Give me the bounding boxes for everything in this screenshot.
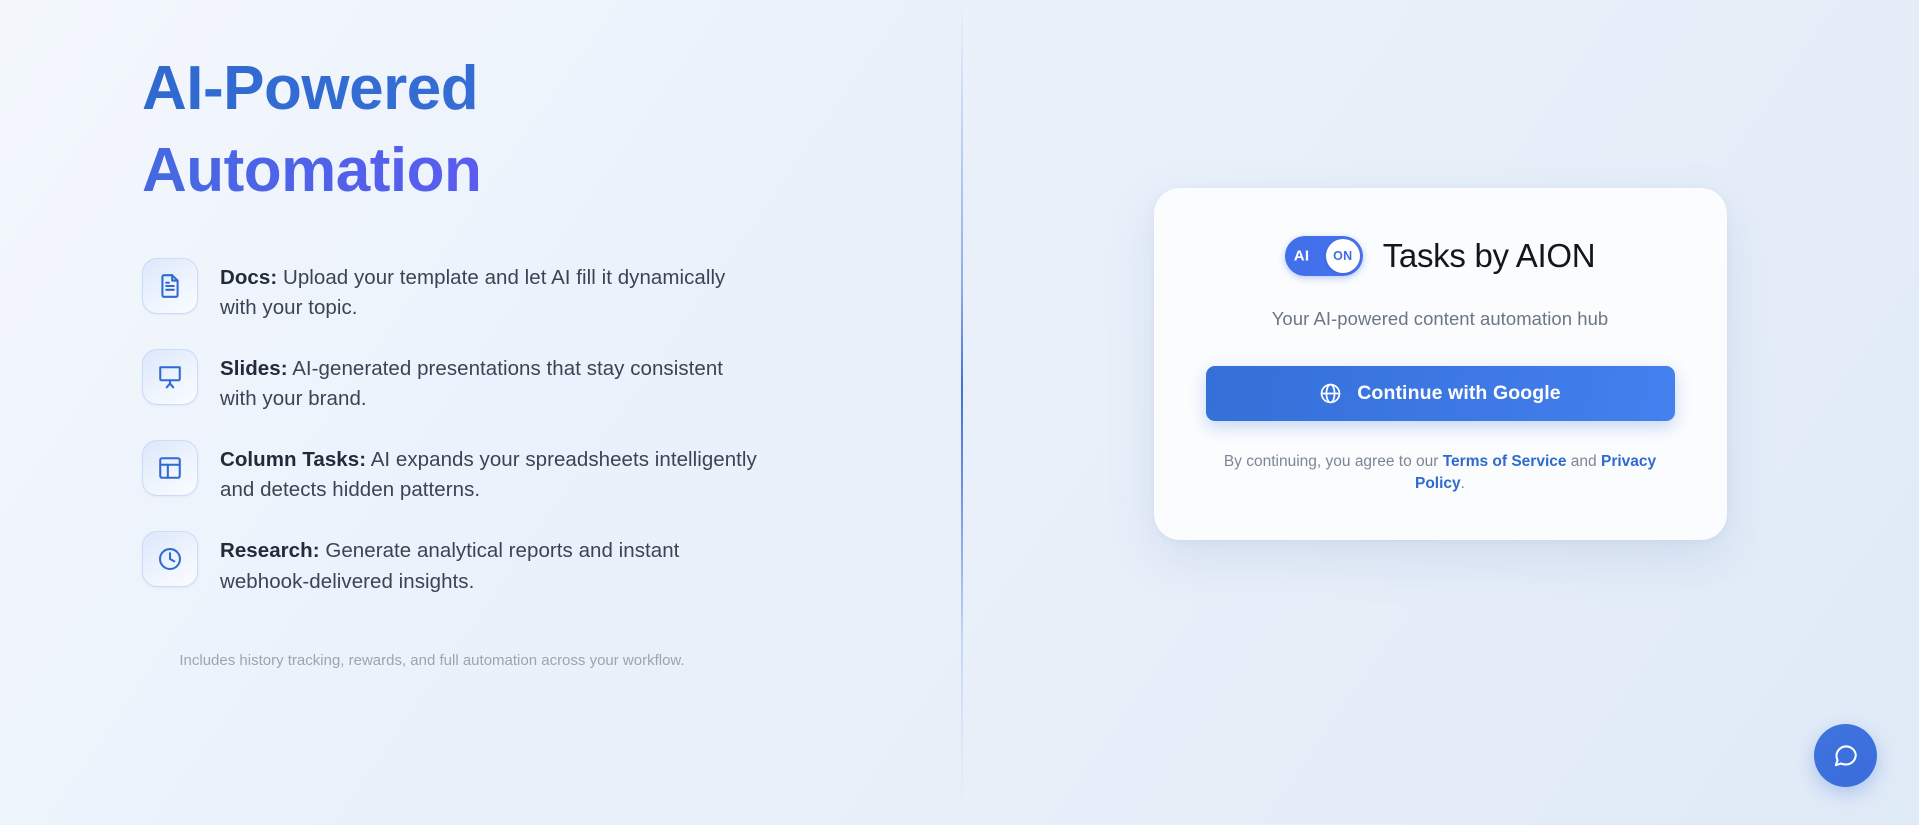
file-text-icon bbox=[142, 258, 198, 314]
feature-description: Upload your template and let AI fill it … bbox=[220, 266, 725, 319]
terms-of-service-link[interactable]: Terms of Service bbox=[1443, 453, 1567, 470]
legal-suffix: . bbox=[1461, 475, 1465, 492]
headline-line-1: AI-Powered bbox=[142, 48, 702, 130]
presentation-icon bbox=[142, 349, 198, 405]
chat-support-button[interactable] bbox=[1814, 724, 1877, 787]
feature-term: Research: bbox=[220, 539, 320, 562]
feature-term: Docs: bbox=[220, 266, 277, 289]
feature-text: Column Tasks: AI expands your spreadshee… bbox=[220, 440, 762, 505]
list-item: Slides: AI-generated presentations that … bbox=[142, 349, 762, 414]
auth-landing-page: AI-Powered Automation Docs: Upload bbox=[0, 0, 1919, 825]
legal-text: By continuing, you agree to our Terms of… bbox=[1206, 451, 1675, 496]
feature-text: Slides: AI-generated presentations that … bbox=[220, 349, 762, 414]
auth-pane: AI ON Tasks by AION Your AI-powered cont… bbox=[961, 0, 1919, 825]
card-subtitle: Your AI-powered content automation hub bbox=[1206, 308, 1675, 330]
continue-with-google-label: Continue with Google bbox=[1357, 382, 1560, 405]
legal-conjunction: and bbox=[1567, 453, 1601, 470]
table-icon bbox=[142, 440, 198, 496]
brand-title: Tasks by AION bbox=[1383, 237, 1596, 275]
page-title: AI-Powered Automation bbox=[142, 48, 702, 212]
auth-card: AI ON Tasks by AION Your AI-powered cont… bbox=[1154, 188, 1727, 540]
feature-description: AI-generated presentations that stay con… bbox=[220, 357, 723, 410]
feature-term: Slides: bbox=[220, 357, 288, 380]
headline-line-2: Automation bbox=[142, 130, 702, 212]
marketing-note: Includes history tracking, rewards, and … bbox=[142, 649, 722, 672]
continue-with-google-button[interactable]: Continue with Google bbox=[1206, 366, 1675, 421]
logo-toggle-knob: ON bbox=[1326, 239, 1360, 273]
list-item: Column Tasks: AI expands your spreadshee… bbox=[142, 440, 762, 505]
globe-icon bbox=[1319, 382, 1342, 405]
clock-icon bbox=[142, 531, 198, 587]
list-item: Research: Generate analytical reports an… bbox=[142, 531, 762, 596]
logo-on-label: ON bbox=[1333, 249, 1352, 263]
ai-toggle-logo: AI ON bbox=[1285, 236, 1363, 276]
feature-text: Docs: Upload your template and let AI fi… bbox=[220, 258, 762, 323]
feature-list: Docs: Upload your template and let AI fi… bbox=[142, 258, 762, 597]
marketing-pane: AI-Powered Automation Docs: Upload bbox=[0, 0, 961, 825]
feature-term: Column Tasks: bbox=[220, 448, 366, 471]
list-item: Docs: Upload your template and let AI fi… bbox=[142, 258, 762, 323]
logo-ai-label: AI bbox=[1294, 248, 1310, 265]
brand-row: AI ON Tasks by AION bbox=[1206, 236, 1675, 276]
legal-prefix: By continuing, you agree to our bbox=[1224, 453, 1443, 470]
feature-text: Research: Generate analytical reports an… bbox=[220, 531, 762, 596]
chat-bubble-icon bbox=[1831, 741, 1860, 770]
